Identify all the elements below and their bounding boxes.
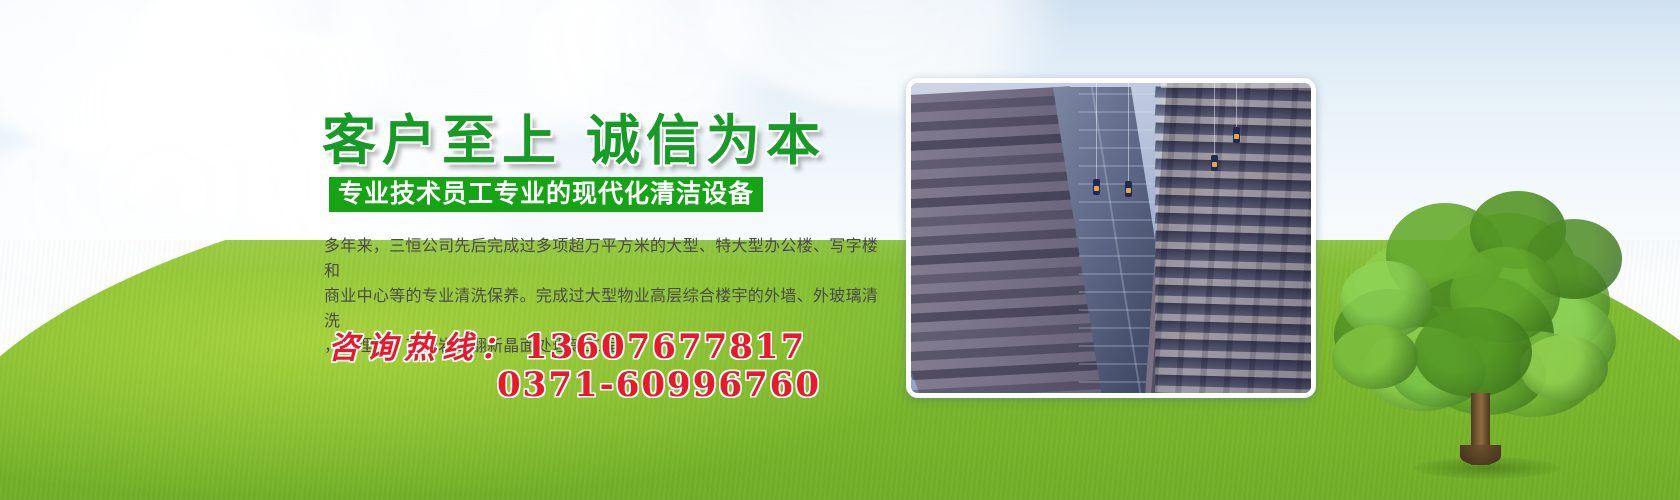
- photo-building-element: [1079, 273, 1157, 275]
- photo-building-element: [1079, 345, 1157, 347]
- tree-foliage-icon: [1332, 325, 1418, 389]
- building-photo: [906, 78, 1316, 398]
- photo-building-element: [1079, 129, 1157, 131]
- photo-building-element: [1079, 327, 1157, 329]
- promo-banner: 客户至上诚信为本 专业技术员工专业的现代化清洁设备 多年来，三恒公司先后完成过多…: [0, 0, 1680, 500]
- photo-building-element: [1079, 363, 1157, 365]
- tree-trunk: [1471, 393, 1490, 465]
- hotline-row: 咨询热线：13607677817: [328, 322, 806, 367]
- cleaning-rope: [1128, 83, 1129, 181]
- hotline-mobile-number[interactable]: 13607677817: [524, 327, 806, 367]
- page-title: 客户至上诚信为本: [322, 96, 826, 175]
- photo-building-element: [1079, 219, 1157, 221]
- photo-building-element: [1079, 93, 1157, 95]
- cleaning-rope: [1214, 83, 1215, 155]
- tree-foliage-icon: [1414, 307, 1532, 397]
- photo-building-element: [1079, 291, 1157, 293]
- photo-building-element: [1079, 237, 1157, 239]
- headline-part-2: 诚信为本: [586, 108, 826, 172]
- window-cleaner-worker-icon: [1211, 155, 1218, 171]
- tree-foliage-icon: [1520, 335, 1608, 401]
- subtitle-bar: 专业技术员工专业的现代化清洁设备: [329, 177, 763, 212]
- headline-part-1: 客户至上: [322, 108, 562, 172]
- hotline-landline-number[interactable]: 0371-60996760: [497, 365, 821, 405]
- photo-building-element: [1079, 201, 1157, 203]
- photo-building-element: [1079, 147, 1157, 149]
- window-cleaner-worker-icon: [1125, 181, 1132, 197]
- building-photo-content: [911, 83, 1311, 393]
- photo-building-element: [1079, 183, 1157, 185]
- hotline-label: 咨询热线：: [328, 330, 518, 366]
- cleaning-rope: [1096, 83, 1097, 179]
- window-cleaner-worker-icon: [1093, 179, 1100, 195]
- window-cleaner-worker-icon: [1233, 127, 1240, 143]
- tree-illustration: [1330, 185, 1630, 475]
- photo-building-element: [1079, 309, 1157, 311]
- photo-building-element: [1079, 165, 1157, 167]
- cleaning-rope: [1236, 83, 1237, 127]
- description-line: 多年来，三恒公司先后完成过多项超万平方米的大型、特大型办公楼、写字楼和: [324, 234, 884, 284]
- photo-building-element: [1079, 111, 1157, 113]
